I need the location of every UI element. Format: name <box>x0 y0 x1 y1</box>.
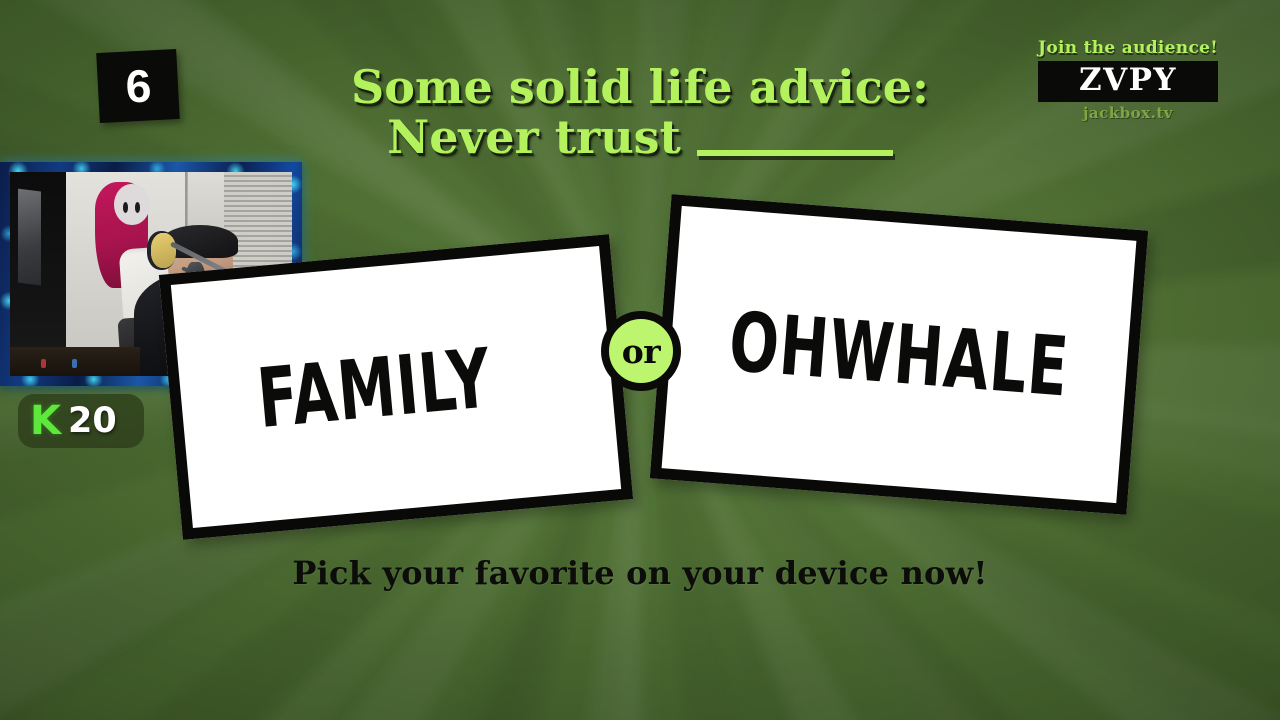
room-code-box: ZVPY <box>1038 61 1218 102</box>
vote-instruction-text: Pick your favorite on your device now! <box>0 554 1280 592</box>
player-score-value: 20 <box>68 404 117 439</box>
answer-card-right-text: OHWHALE <box>682 297 1116 411</box>
join-audience-block: Join the audience! ZVPY jackbox.tv <box>1038 38 1218 122</box>
webcam-red-object <box>41 359 46 368</box>
round-number-badge: 6 <box>96 49 180 123</box>
webcam-mask-eye-right <box>135 202 140 213</box>
player-score-badge: K 20 <box>18 394 144 448</box>
game-screen: 6 Some solid life advice: Never trust Jo… <box>0 0 1280 720</box>
answer-card-left-text: FAMILY <box>191 328 601 446</box>
room-code-value: ZVPY <box>1079 62 1177 98</box>
webcam-blue-object <box>72 359 77 368</box>
webcam-headphones <box>151 233 176 268</box>
webcam-face-mask <box>114 184 149 225</box>
join-audience-headline: Join the audience! <box>1038 38 1218 58</box>
k-logo-icon: K <box>30 401 59 441</box>
or-separator-label: or <box>622 335 660 368</box>
answer-card-left[interactable]: FAMILY <box>159 234 633 540</box>
join-website-label: jackbox.tv <box>1038 104 1218 122</box>
round-number-value: 6 <box>125 62 152 109</box>
answer-card-right[interactable]: OHWHALE <box>650 194 1148 515</box>
or-separator-badge: or <box>601 311 681 391</box>
webcam-mask-eye-left <box>123 202 128 213</box>
webcam-mirror <box>18 189 41 286</box>
